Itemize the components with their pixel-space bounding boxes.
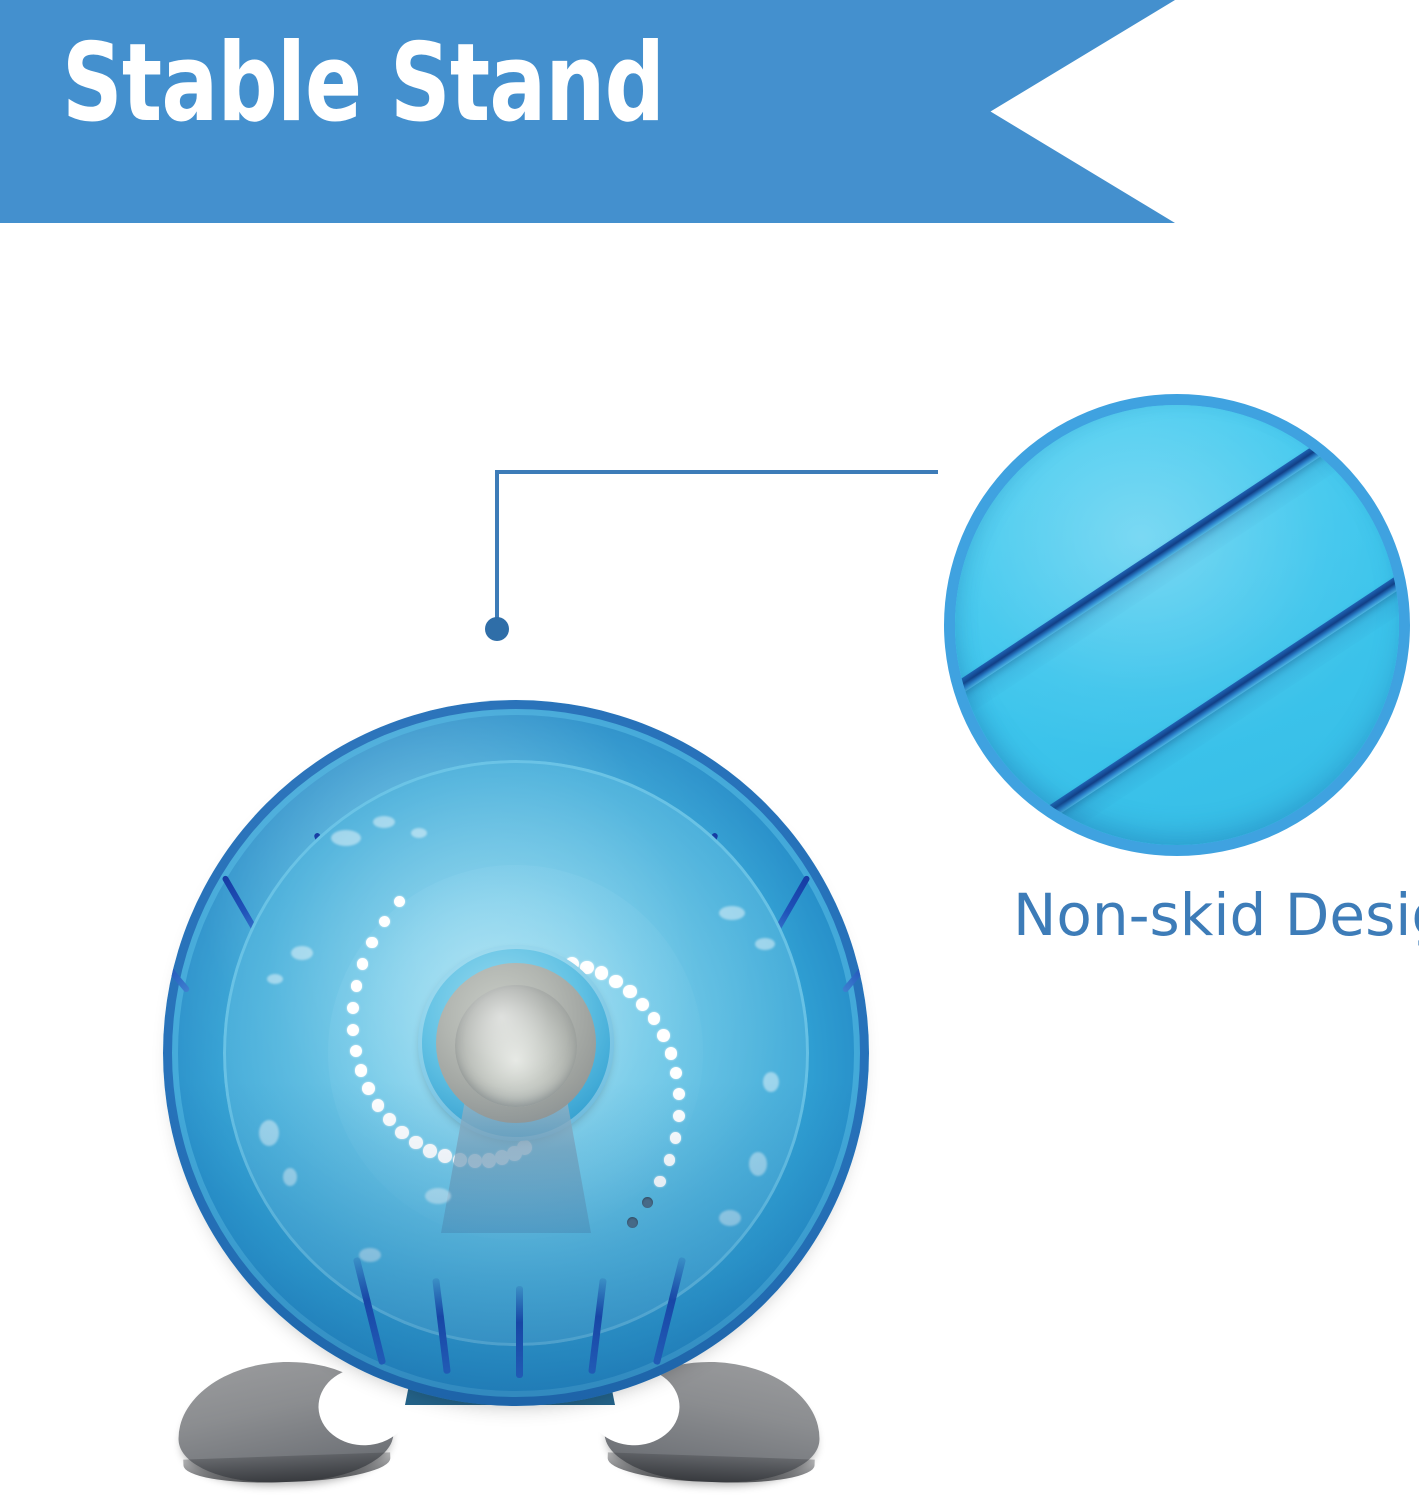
callout-line-icon bbox=[470, 440, 970, 660]
wheel-highlight-speck bbox=[359, 1248, 381, 1262]
wheel-highlight-speck bbox=[291, 946, 313, 960]
wheel-hole bbox=[627, 1217, 638, 1228]
wheel-highlight-speck bbox=[763, 1072, 779, 1092]
wheel-hole bbox=[636, 998, 649, 1011]
wheel-hub bbox=[418, 945, 614, 1141]
wheel-hole bbox=[423, 1144, 437, 1158]
wheel-hole bbox=[409, 1136, 422, 1149]
wheel-hole bbox=[379, 916, 390, 927]
wheel-hub-dome bbox=[455, 985, 577, 1107]
wheel-hole bbox=[664, 1154, 676, 1166]
wheel-bottom-rib bbox=[516, 1286, 523, 1378]
groove-shadow bbox=[944, 394, 1410, 729]
marketing-image-canvas: Stable Stand Non-skid Design bbox=[0, 0, 1419, 1500]
wheel-highlight-speck bbox=[411, 828, 427, 838]
inset-caption: Non-skid Design bbox=[1013, 886, 1419, 944]
banner-title: Stable Stand bbox=[62, 30, 664, 138]
wheel-hole bbox=[355, 1064, 368, 1077]
wheel-highlight-speck bbox=[283, 1168, 297, 1186]
wheel-hole bbox=[654, 1176, 665, 1187]
wheel-hole bbox=[665, 1047, 678, 1060]
wheel-highlight-speck bbox=[425, 1188, 451, 1204]
exercise-wheel bbox=[163, 700, 869, 1406]
wheel-hole bbox=[372, 1099, 385, 1112]
tread-groove bbox=[944, 394, 1410, 706]
product-photo bbox=[150, 690, 870, 1500]
wheel-highlight-speck bbox=[331, 830, 361, 846]
wheel-tread-tick bbox=[163, 933, 190, 994]
wheel-highlight-speck bbox=[755, 938, 775, 950]
wheel-hole bbox=[357, 958, 369, 970]
wheel-hole bbox=[670, 1132, 682, 1144]
wheel-highlight-speck bbox=[719, 1210, 741, 1226]
wheel-highlight-speck bbox=[259, 1120, 279, 1146]
wheel-hole bbox=[350, 1045, 362, 1057]
wheel-highlight-speck bbox=[749, 1152, 767, 1176]
wheel-hub-ring bbox=[436, 963, 596, 1123]
wheel-highlight-speck bbox=[267, 974, 283, 984]
wheel-hole bbox=[673, 1110, 685, 1122]
wheel-hole bbox=[673, 1088, 685, 1100]
wheel-highlight-speck bbox=[373, 816, 395, 828]
wheel-hole bbox=[657, 1029, 670, 1042]
wheel-hole bbox=[395, 1126, 408, 1139]
tread-groove bbox=[944, 566, 1410, 856]
callout-leader bbox=[470, 440, 970, 660]
inset-tread-surface bbox=[955, 405, 1399, 845]
magnified-inset bbox=[944, 394, 1410, 856]
stand-foot bbox=[176, 1358, 395, 1485]
banner: Stable Stand bbox=[0, 0, 1175, 223]
wheel-hole bbox=[366, 937, 377, 948]
callout-dot-icon bbox=[485, 617, 509, 641]
wheel-hole bbox=[362, 1082, 375, 1095]
wheel-hole bbox=[623, 985, 636, 998]
wheel-tread-tick bbox=[842, 933, 869, 994]
wheel-hole bbox=[609, 975, 622, 988]
wheel-highlight-speck bbox=[719, 906, 745, 920]
